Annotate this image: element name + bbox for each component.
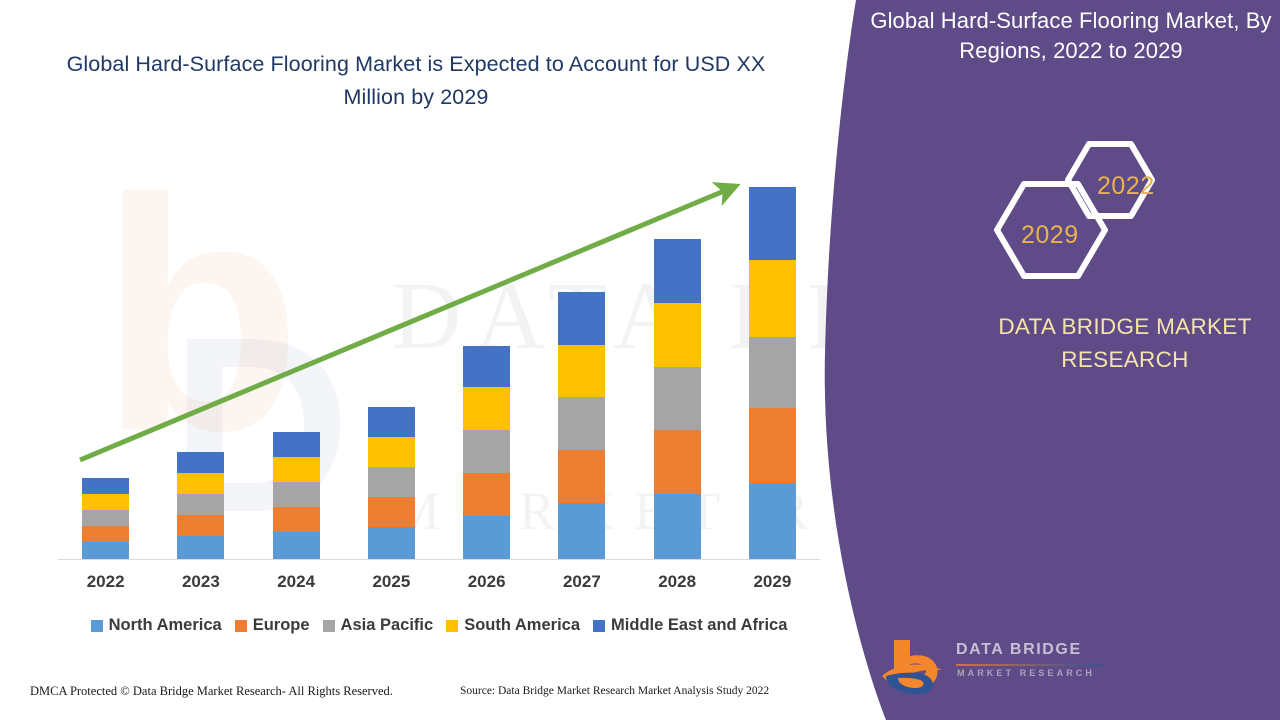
panel-title: Global Hard-Surface Flooring Market, By …	[862, 6, 1280, 67]
bar-segment	[749, 408, 796, 483]
source-notice: Source: Data Bridge Market Research Mark…	[460, 685, 769, 697]
slide-canvas: b D DATA BRIDGE MARKET RESEARCH Global H…	[0, 0, 1280, 720]
legend-swatch-icon	[91, 620, 103, 632]
chart-title: Global Hard-Surface Flooring Market is E…	[36, 48, 796, 115]
legend-swatch-icon	[323, 620, 335, 632]
bar-segment	[368, 437, 415, 467]
chart-baseline-axis	[58, 559, 820, 560]
bar-segment	[177, 536, 224, 559]
stacked-bar-2029	[749, 187, 796, 559]
stacked-bar-group	[58, 160, 820, 559]
bar-segment	[463, 473, 510, 516]
stacked-bar-2025	[368, 407, 415, 559]
x-axis-label-2026: 2026	[439, 572, 534, 592]
legend-swatch-icon	[446, 620, 458, 632]
bar-segment	[654, 303, 701, 367]
bar-segment	[368, 497, 415, 527]
legend-swatch-icon	[593, 620, 605, 632]
bar-segment	[463, 430, 510, 473]
bar-segment	[273, 457, 320, 482]
bar-segment	[273, 532, 320, 559]
bar-slot	[58, 160, 153, 559]
legend-label: Asia Pacific	[341, 616, 434, 635]
legend-item[interactable]: North America	[91, 616, 222, 635]
hexagon-2022-label: 2022	[1097, 172, 1155, 201]
bar-segment	[273, 432, 320, 457]
x-axis-labels: 20222023202420252026202720282029	[58, 572, 820, 592]
legend-swatch-icon	[235, 620, 247, 632]
bar-segment	[177, 494, 224, 515]
logo-text-bottom: MARKET RESEARCH	[957, 668, 1095, 678]
bar-segment	[368, 527, 415, 559]
bar-slot	[725, 160, 820, 559]
bar-segment	[463, 346, 510, 388]
bar-segment	[82, 494, 129, 510]
bar-slot	[153, 160, 248, 559]
bar-segment	[558, 397, 605, 450]
legend-item[interactable]: Europe	[235, 616, 310, 635]
copyright-notice: DMCA Protected © Data Bridge Market Rese…	[30, 684, 393, 699]
stacked-bar-2022	[82, 478, 129, 559]
bar-segment	[82, 542, 129, 559]
chart-plot-area	[58, 160, 820, 560]
legend-item[interactable]: South America	[446, 616, 580, 635]
bar-segment	[368, 467, 415, 497]
bar-segment	[558, 450, 605, 503]
brand-name-text: DATA BRIDGE MARKET RESEARCH	[960, 311, 1280, 376]
legend-item[interactable]: Asia Pacific	[323, 616, 434, 635]
bar-segment	[177, 473, 224, 494]
legend-label: Middle East and Africa	[611, 616, 787, 635]
bar-slot	[630, 160, 725, 559]
bar-segment	[273, 507, 320, 532]
hexagon-badges	[985, 140, 1185, 295]
legend-item[interactable]: Middle East and Africa	[593, 616, 787, 635]
bar-segment	[177, 515, 224, 536]
chart-legend: North AmericaEuropeAsia PacificSouth Ame…	[58, 616, 820, 635]
bar-segment	[558, 292, 605, 345]
x-axis-label-2024: 2024	[249, 572, 344, 592]
bar-segment	[749, 483, 796, 559]
hexagon-2029-label: 2029	[1021, 221, 1079, 250]
bar-segment	[749, 260, 796, 337]
bar-segment	[654, 430, 701, 494]
x-axis-label-2022: 2022	[58, 572, 153, 592]
stacked-bar-2024	[273, 432, 320, 559]
stacked-bar-2028	[654, 239, 701, 559]
bar-segment	[749, 187, 796, 260]
x-axis-label-2028: 2028	[630, 572, 725, 592]
logo-mark-icon	[880, 636, 952, 698]
bar-segment	[749, 337, 796, 409]
bar-slot	[344, 160, 439, 559]
bar-segment	[82, 478, 129, 494]
legend-label: South America	[464, 616, 580, 635]
legend-label: Europe	[253, 616, 310, 635]
bar-segment	[654, 239, 701, 303]
stacked-bar-2027	[558, 292, 605, 559]
x-axis-label-2027: 2027	[534, 572, 629, 592]
bar-segment	[463, 387, 510, 430]
x-axis-label-2025: 2025	[344, 572, 439, 592]
bar-segment	[558, 503, 605, 559]
x-axis-label-2023: 2023	[153, 572, 248, 592]
bar-segment	[654, 367, 701, 431]
bar-segment	[654, 494, 701, 559]
bar-segment	[82, 510, 129, 526]
bar-segment	[368, 407, 415, 437]
bar-segment	[463, 516, 510, 559]
stacked-bar-2026	[463, 346, 510, 559]
bar-segment	[82, 526, 129, 542]
bar-segment	[273, 482, 320, 507]
bar-segment	[558, 345, 605, 398]
bar-slot	[534, 160, 629, 559]
bar-segment	[177, 452, 224, 473]
logo-text-top: DATA BRIDGE	[956, 641, 1082, 659]
logo-divider	[956, 664, 1102, 666]
bar-slot	[249, 160, 344, 559]
data-bridge-logo: DATA BRIDGE MARKET RESEARCH	[880, 636, 1110, 698]
bar-slot	[439, 160, 534, 559]
x-axis-label-2029: 2029	[725, 572, 820, 592]
stacked-bar-2023	[177, 452, 224, 559]
legend-label: North America	[109, 616, 222, 635]
